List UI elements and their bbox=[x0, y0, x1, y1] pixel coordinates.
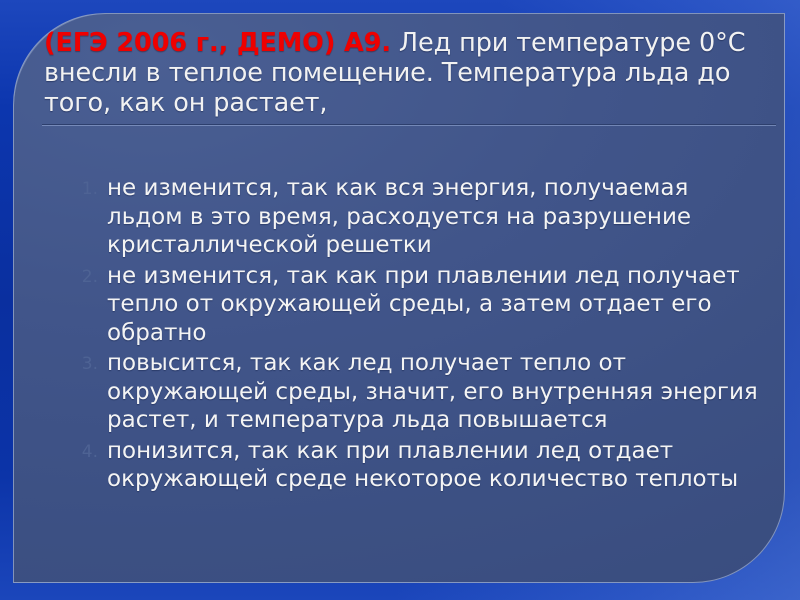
list-item-marker: 2. bbox=[70, 265, 98, 289]
answer-options-list: 1. не изменится, так как вся энергия, по… bbox=[70, 174, 760, 496]
page-title: (ЕГЭ 2006 г., ДЕМО) А9. Лед при температ… bbox=[44, 28, 760, 118]
presentation-slide: (ЕГЭ 2006 г., ДЕМО) А9. Лед при температ… bbox=[0, 0, 800, 600]
list-item-marker: 3. bbox=[70, 352, 98, 376]
list-item[interactable]: 3. повысится, так как лед получает тепло… bbox=[70, 349, 760, 435]
title-divider bbox=[42, 124, 776, 126]
list-item[interactable]: 2. не изменится, так как при плавлении л… bbox=[70, 262, 760, 348]
list-item-label: повысится, так как лед получает тепло от… bbox=[107, 349, 760, 435]
list-item-label: понизится, так как при плавлении лед отд… bbox=[107, 437, 760, 494]
title-block: (ЕГЭ 2006 г., ДЕМО) А9. Лед при температ… bbox=[44, 28, 760, 118]
list-item-marker: 4. bbox=[70, 440, 98, 464]
slide-content-panel: (ЕГЭ 2006 г., ДЕМО) А9. Лед при температ… bbox=[13, 13, 785, 583]
list-item-label: не изменится, так как при плавлении лед … bbox=[107, 262, 760, 348]
list-item-marker: 1. bbox=[70, 177, 98, 201]
list-item[interactable]: 1. не изменится, так как вся энергия, по… bbox=[70, 174, 760, 260]
exam-reference-label: (ЕГЭ 2006 г., ДЕМО) А9. bbox=[44, 28, 391, 58]
list-item-label: не изменится, так как вся энергия, получ… bbox=[107, 174, 760, 260]
list-item[interactable]: 4. понизится, так как при плавлении лед … bbox=[70, 437, 760, 494]
